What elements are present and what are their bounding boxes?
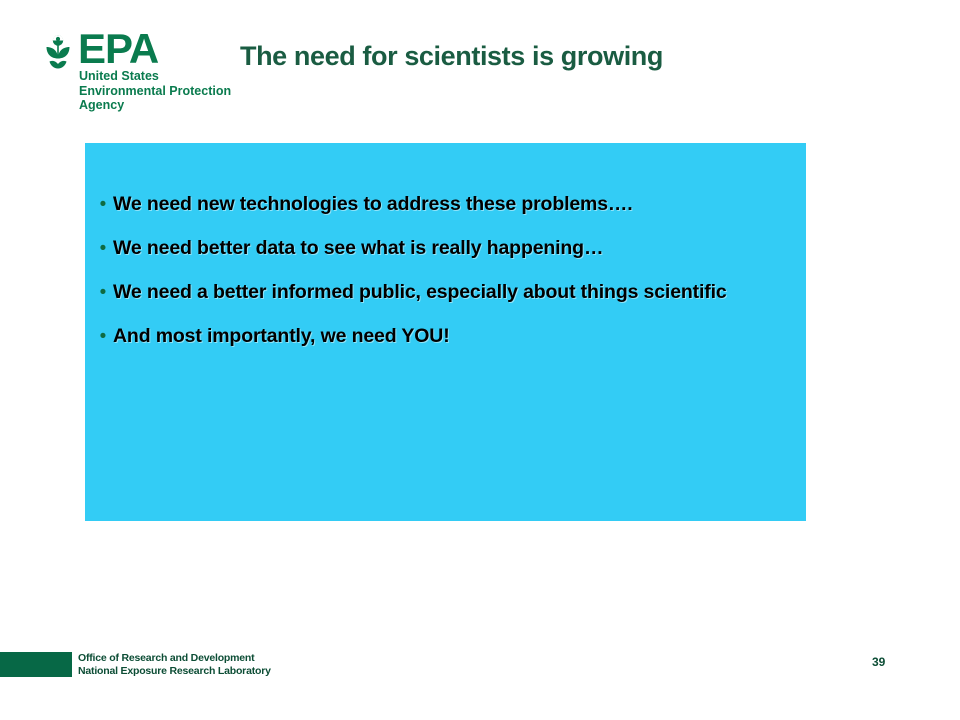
epa-wordmark: EPA [78, 28, 158, 70]
epa-agency-name: United States Environmental Protection A… [79, 69, 231, 113]
page-number: 39 [872, 655, 885, 669]
list-item: • We need new technologies to address th… [93, 191, 796, 218]
bullet-dot-icon: • [93, 235, 113, 262]
slide-canvas: EPA United States Environmental Protecti… [0, 0, 960, 720]
list-item: • We need better data to see what is rea… [93, 235, 796, 262]
epa-agency-line-1: United States [79, 69, 231, 84]
list-item: • And most importantly, we need YOU! [93, 323, 796, 350]
bullet-text: And most importantly, we need YOU! [113, 323, 796, 350]
footer-line-2: National Exposure Research Laboratory [78, 665, 271, 678]
bullet-dot-icon: • [93, 323, 113, 350]
bullet-text: We need new technologies to address thes… [113, 191, 796, 218]
bullet-text: We need a better informed public, especi… [113, 279, 796, 306]
bullet-text: We need better data to see what is reall… [113, 235, 796, 262]
bullet-list: • We need new technologies to address th… [93, 191, 796, 367]
bullet-dot-icon: • [93, 191, 113, 218]
list-item: • We need a better informed public, espe… [93, 279, 796, 306]
footer-line-1: Office of Research and Development [78, 652, 271, 665]
content-panel: • We need new technologies to address th… [85, 143, 806, 521]
epa-agency-line-2: Environmental Protection [79, 84, 231, 99]
bullet-dot-icon: • [93, 279, 113, 306]
epa-logo: EPA United States Environmental Protecti… [38, 28, 228, 110]
epa-seal-icon [38, 32, 78, 72]
footer-organization: Office of Research and Development Natio… [78, 652, 271, 678]
page-title: The need for scientists is growing [240, 41, 710, 71]
epa-agency-line-3: Agency [79, 98, 231, 113]
footer-accent-bar [0, 652, 72, 677]
